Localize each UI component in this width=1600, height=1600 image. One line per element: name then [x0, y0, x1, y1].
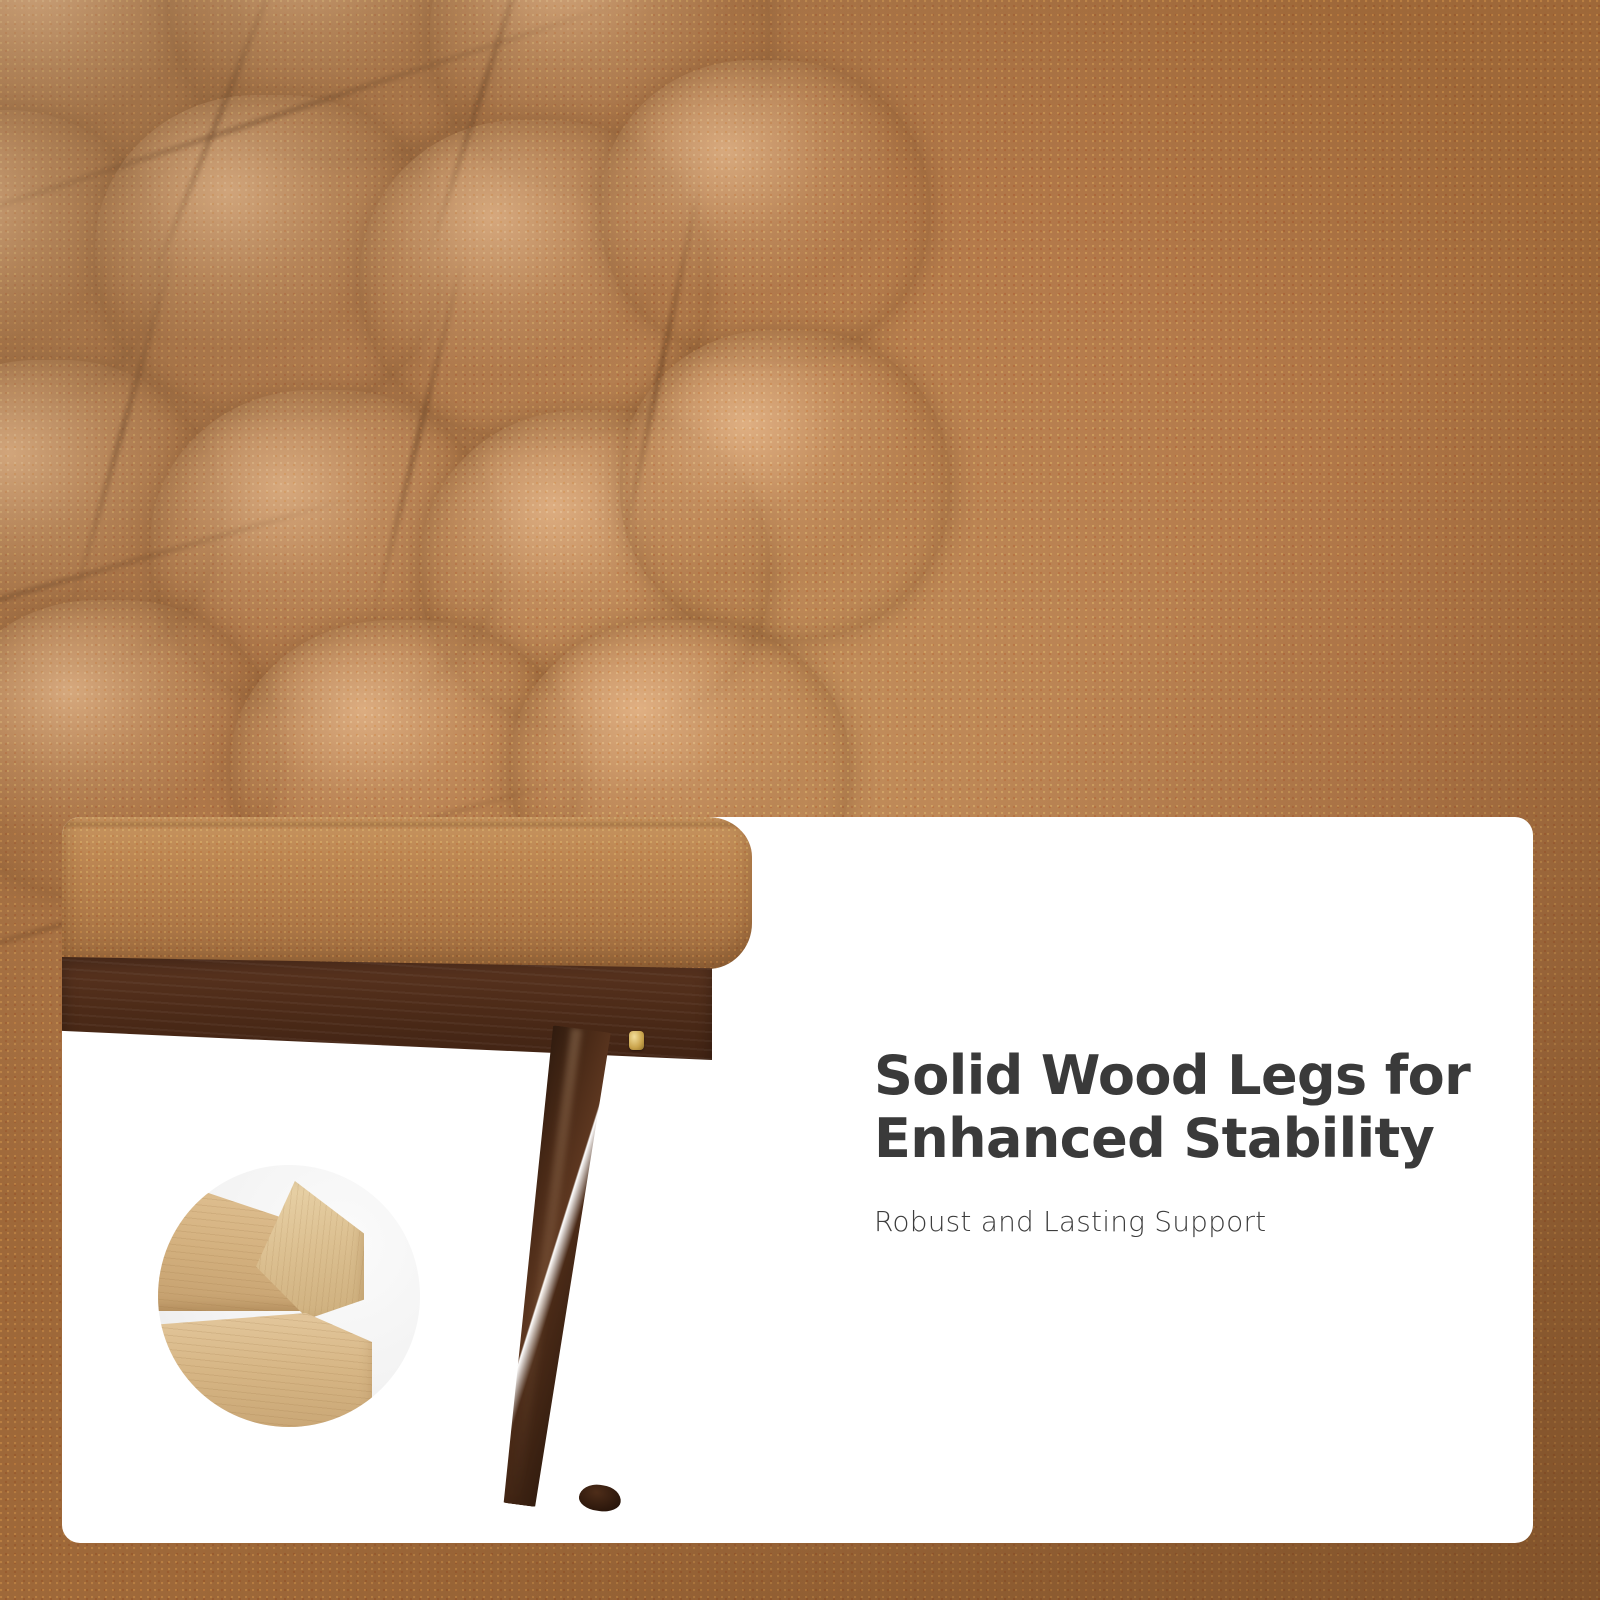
walnut-frame-rail — [62, 957, 712, 1069]
bottom-text-block: Solid Wood Legs for Enhanced Stability R… — [874, 1045, 1474, 1241]
image-tufted-leather-closeup — [0, 0, 735, 723]
leg-highlight — [509, 1028, 582, 1505]
brass-screw-icon — [629, 1031, 644, 1050]
frame-wood-grain — [62, 957, 712, 1069]
panel-subline-solid-wood-legs: Robust and Lasting Support — [874, 1204, 1474, 1240]
headline-line-1: Solid Wood Legs for — [874, 1044, 1470, 1107]
cushion-grain-texture — [62, 817, 752, 969]
panel-headline-solid-wood-legs: Solid Wood Legs for Enhanced Stability — [874, 1045, 1474, 1170]
wood-block-bottom — [158, 1313, 372, 1427]
wood-grain — [158, 1313, 372, 1427]
leather-scene — [0, 0, 735, 723]
leather-cushion — [62, 817, 752, 969]
inset-wood-grain-detail — [158, 1165, 420, 1427]
image-bench-leg-closeup — [62, 817, 822, 1543]
headline-line-2: Enhanced Stability — [874, 1107, 1434, 1170]
leather-shading — [0, 0, 735, 723]
product-feature-page: Exquisite Button-tufted Design Beauty in… — [0, 0, 1600, 1600]
tapered-wood-leg — [487, 1025, 615, 1510]
leg-foot-tip — [577, 1482, 622, 1513]
